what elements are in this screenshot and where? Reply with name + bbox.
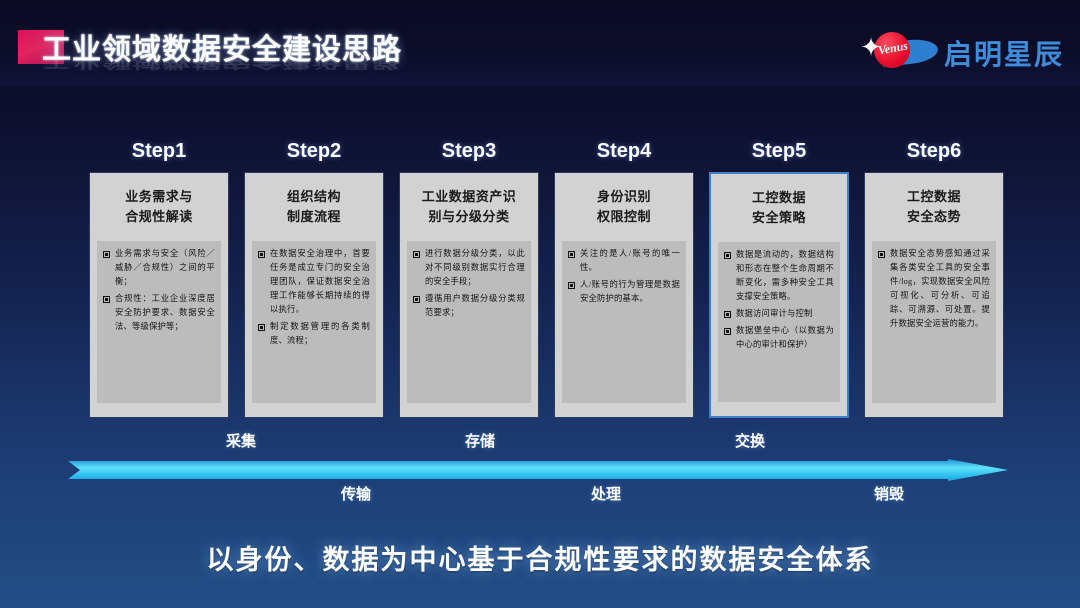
bullet-item: 在数据安全治理中，首要任务是成立专门的安全治理团队，保证数据安全治理工作能够长期…	[258, 247, 370, 317]
bullet-square-icon	[568, 251, 575, 258]
bullet-square-icon	[413, 251, 420, 258]
step-card-title-line: 工业数据资产识	[406, 187, 532, 207]
step-card-title-line: 别与分级分类	[406, 207, 532, 227]
step-card-title-line: 制度流程	[251, 207, 377, 227]
step-label-1: Step1	[89, 140, 229, 163]
bullet-item: 业务需求与安全（风险／威胁／合规性）之间的平衡；	[103, 247, 215, 289]
step-card-6[interactable]: 工控数据安全态势数据安全态势感知通过采集各类安全工具的安全事件/log，实现数据…	[864, 172, 1004, 418]
step-card-title-line: 工控数据	[871, 187, 997, 207]
step-card-body-3: 进行数据分级分类，以此对不同级别数据实行合理的安全手段；遵循用户数据分级分类规范…	[407, 241, 531, 403]
step-card-title-5: 工控数据安全策略	[717, 188, 841, 228]
step-card-3[interactable]: 工业数据资产识别与分级分类进行数据分级分类，以此对不同级别数据实行合理的安全手段…	[399, 172, 539, 418]
bullet-square-icon	[258, 324, 265, 331]
bullet-square-icon	[724, 252, 731, 259]
bullet-item: 遵循用户数据分级分类规范要求；	[413, 292, 525, 320]
step-card-body-6: 数据安全态势感知通过采集各类安全工具的安全事件/log，实现数据安全风险可视化、…	[872, 241, 996, 403]
step-card-body-5: 数据是流动的，数据结构和形态在整个生命周期不断变化，需多种安全工具支撑安全策略。…	[718, 242, 840, 402]
bullet-text: 关注的是人/账号的唯一性。	[580, 247, 680, 275]
step-card-title-line: 安全策略	[717, 208, 841, 228]
bullet-square-icon	[258, 251, 265, 258]
bullet-text: 合规性：工业企业深度居安全防护要求、数据安全法、等级保护等；	[115, 292, 215, 334]
step-card-1[interactable]: 业务需求与合规性解读业务需求与安全（风险／威胁／合规性）之间的平衡；合规性：工业…	[89, 172, 229, 418]
step-card-body-1: 业务需求与安全（风险／威胁／合规性）之间的平衡；合规性：工业企业深度居安全防护要…	[97, 241, 221, 403]
bullet-square-icon	[103, 251, 110, 258]
bullet-text: 遵循用户数据分级分类规范要求；	[425, 292, 525, 320]
step-label-2: Step2	[244, 140, 384, 163]
bullet-square-icon	[568, 282, 575, 289]
bullet-text: 业务需求与安全（风险／威胁／合规性）之间的平衡；	[115, 247, 215, 289]
step-label-5: Step5	[709, 140, 849, 163]
flow-stage-label-below-1: 传输	[341, 483, 371, 504]
bullet-text: 数据是流动的，数据结构和形态在整个生命周期不断变化，需多种安全工具支撑安全策略。	[736, 248, 834, 304]
step-label-3: Step3	[399, 140, 539, 163]
step-card-title-2: 组织结构制度流程	[251, 187, 377, 227]
slide-canvas: 工业领域数据安全建设思路 工业领域数据安全建设思路 ✦ Venus 启明星辰 S…	[0, 0, 1080, 608]
step-card-title-1: 业务需求与合规性解读	[96, 187, 222, 227]
bullet-text: 进行数据分级分类，以此对不同级别数据实行合理的安全手段；	[425, 247, 525, 289]
step-card-title-line: 合规性解读	[96, 207, 222, 227]
bullet-square-icon	[878, 251, 885, 258]
bullet-square-icon	[103, 296, 110, 303]
step-card-5[interactable]: 工控数据安全策略数据是流动的，数据结构和形态在整个生命周期不断变化，需多种安全工…	[709, 172, 849, 418]
bullet-item: 数据堡垒中心（以数据为中心的审计和保护）	[724, 324, 834, 352]
data-lifecycle-arrow	[68, 459, 1008, 481]
bullet-item: 数据安全态势感知通过采集各类安全工具的安全事件/log，实现数据安全风险可视化、…	[878, 247, 990, 331]
step-card-title-line: 身份识别	[561, 187, 687, 207]
step-card-title-3: 工业数据资产识别与分级分类	[406, 187, 532, 227]
bullet-text: 数据安全态势感知通过采集各类安全工具的安全事件/log，实现数据安全风险可视化、…	[890, 247, 990, 331]
bullet-item: 数据是流动的，数据结构和形态在整个生命周期不断变化，需多种安全工具支撑安全策略。	[724, 248, 834, 304]
slide-caption: 以身份、数据为中心基于合规性要求的数据安全体系	[0, 538, 1080, 577]
flow-stage-label-below-2: 处理	[591, 483, 621, 504]
step-card-title-4: 身份识别权限控制	[561, 187, 687, 227]
step-card-title-line: 工控数据	[717, 188, 841, 208]
step-label-6: Step6	[864, 140, 1004, 163]
flow-stage-label-above-1: 采集	[226, 430, 256, 451]
bullet-item: 进行数据分级分类，以此对不同级别数据实行合理的安全手段；	[413, 247, 525, 289]
bullet-text: 在数据安全治理中，首要任务是成立专门的安全治理团队，保证数据安全治理工作能够长期…	[270, 247, 370, 317]
step-card-title-6: 工控数据安全态势	[871, 187, 997, 227]
flow-stage-label-above-3: 交换	[735, 430, 765, 451]
bullet-text: 数据堡垒中心（以数据为中心的审计和保护）	[736, 324, 834, 352]
bullet-item: 数据访问审计与控制	[724, 307, 834, 321]
step-card-body-2: 在数据安全治理中，首要任务是成立专门的安全治理团队，保证数据安全治理工作能够长期…	[252, 241, 376, 403]
bullet-item: 合规性：工业企业深度居安全防护要求、数据安全法、等级保护等；	[103, 292, 215, 334]
bullet-square-icon	[724, 311, 731, 318]
bullet-square-icon	[724, 328, 731, 335]
step-card-title-line: 业务需求与	[96, 187, 222, 207]
step-card-title-line: 安全态势	[871, 207, 997, 227]
step-card-4[interactable]: 身份识别权限控制关注的是人/账号的唯一性。人/账号的行为管理是数据安全防护的基本…	[554, 172, 694, 418]
step-card-2[interactable]: 组织结构制度流程在数据安全治理中，首要任务是成立专门的安全治理团队，保证数据安全…	[244, 172, 384, 418]
flow-stage-label-below-3: 销毁	[874, 483, 904, 504]
flow-stage-label-above-2: 存储	[465, 430, 495, 451]
bullet-text: 数据访问审计与控制	[736, 307, 834, 321]
step-card-title-line: 权限控制	[561, 207, 687, 227]
bullet-item: 制定数据管理的各类制度、流程；	[258, 320, 370, 348]
bullet-square-icon	[413, 296, 420, 303]
steps-container: Step1业务需求与合规性解读业务需求与安全（风险／威胁／合规性）之间的平衡；合…	[0, 0, 1080, 608]
step-label-4: Step4	[554, 140, 694, 163]
step-card-title-line: 组织结构	[251, 187, 377, 207]
bullet-text: 人/账号的行为管理是数据安全防护的基本。	[580, 278, 680, 306]
step-card-body-4: 关注的是人/账号的唯一性。人/账号的行为管理是数据安全防护的基本。	[562, 241, 686, 403]
bullet-item: 人/账号的行为管理是数据安全防护的基本。	[568, 278, 680, 306]
bullet-item: 关注的是人/账号的唯一性。	[568, 247, 680, 275]
bullet-text: 制定数据管理的各类制度、流程；	[270, 320, 370, 348]
